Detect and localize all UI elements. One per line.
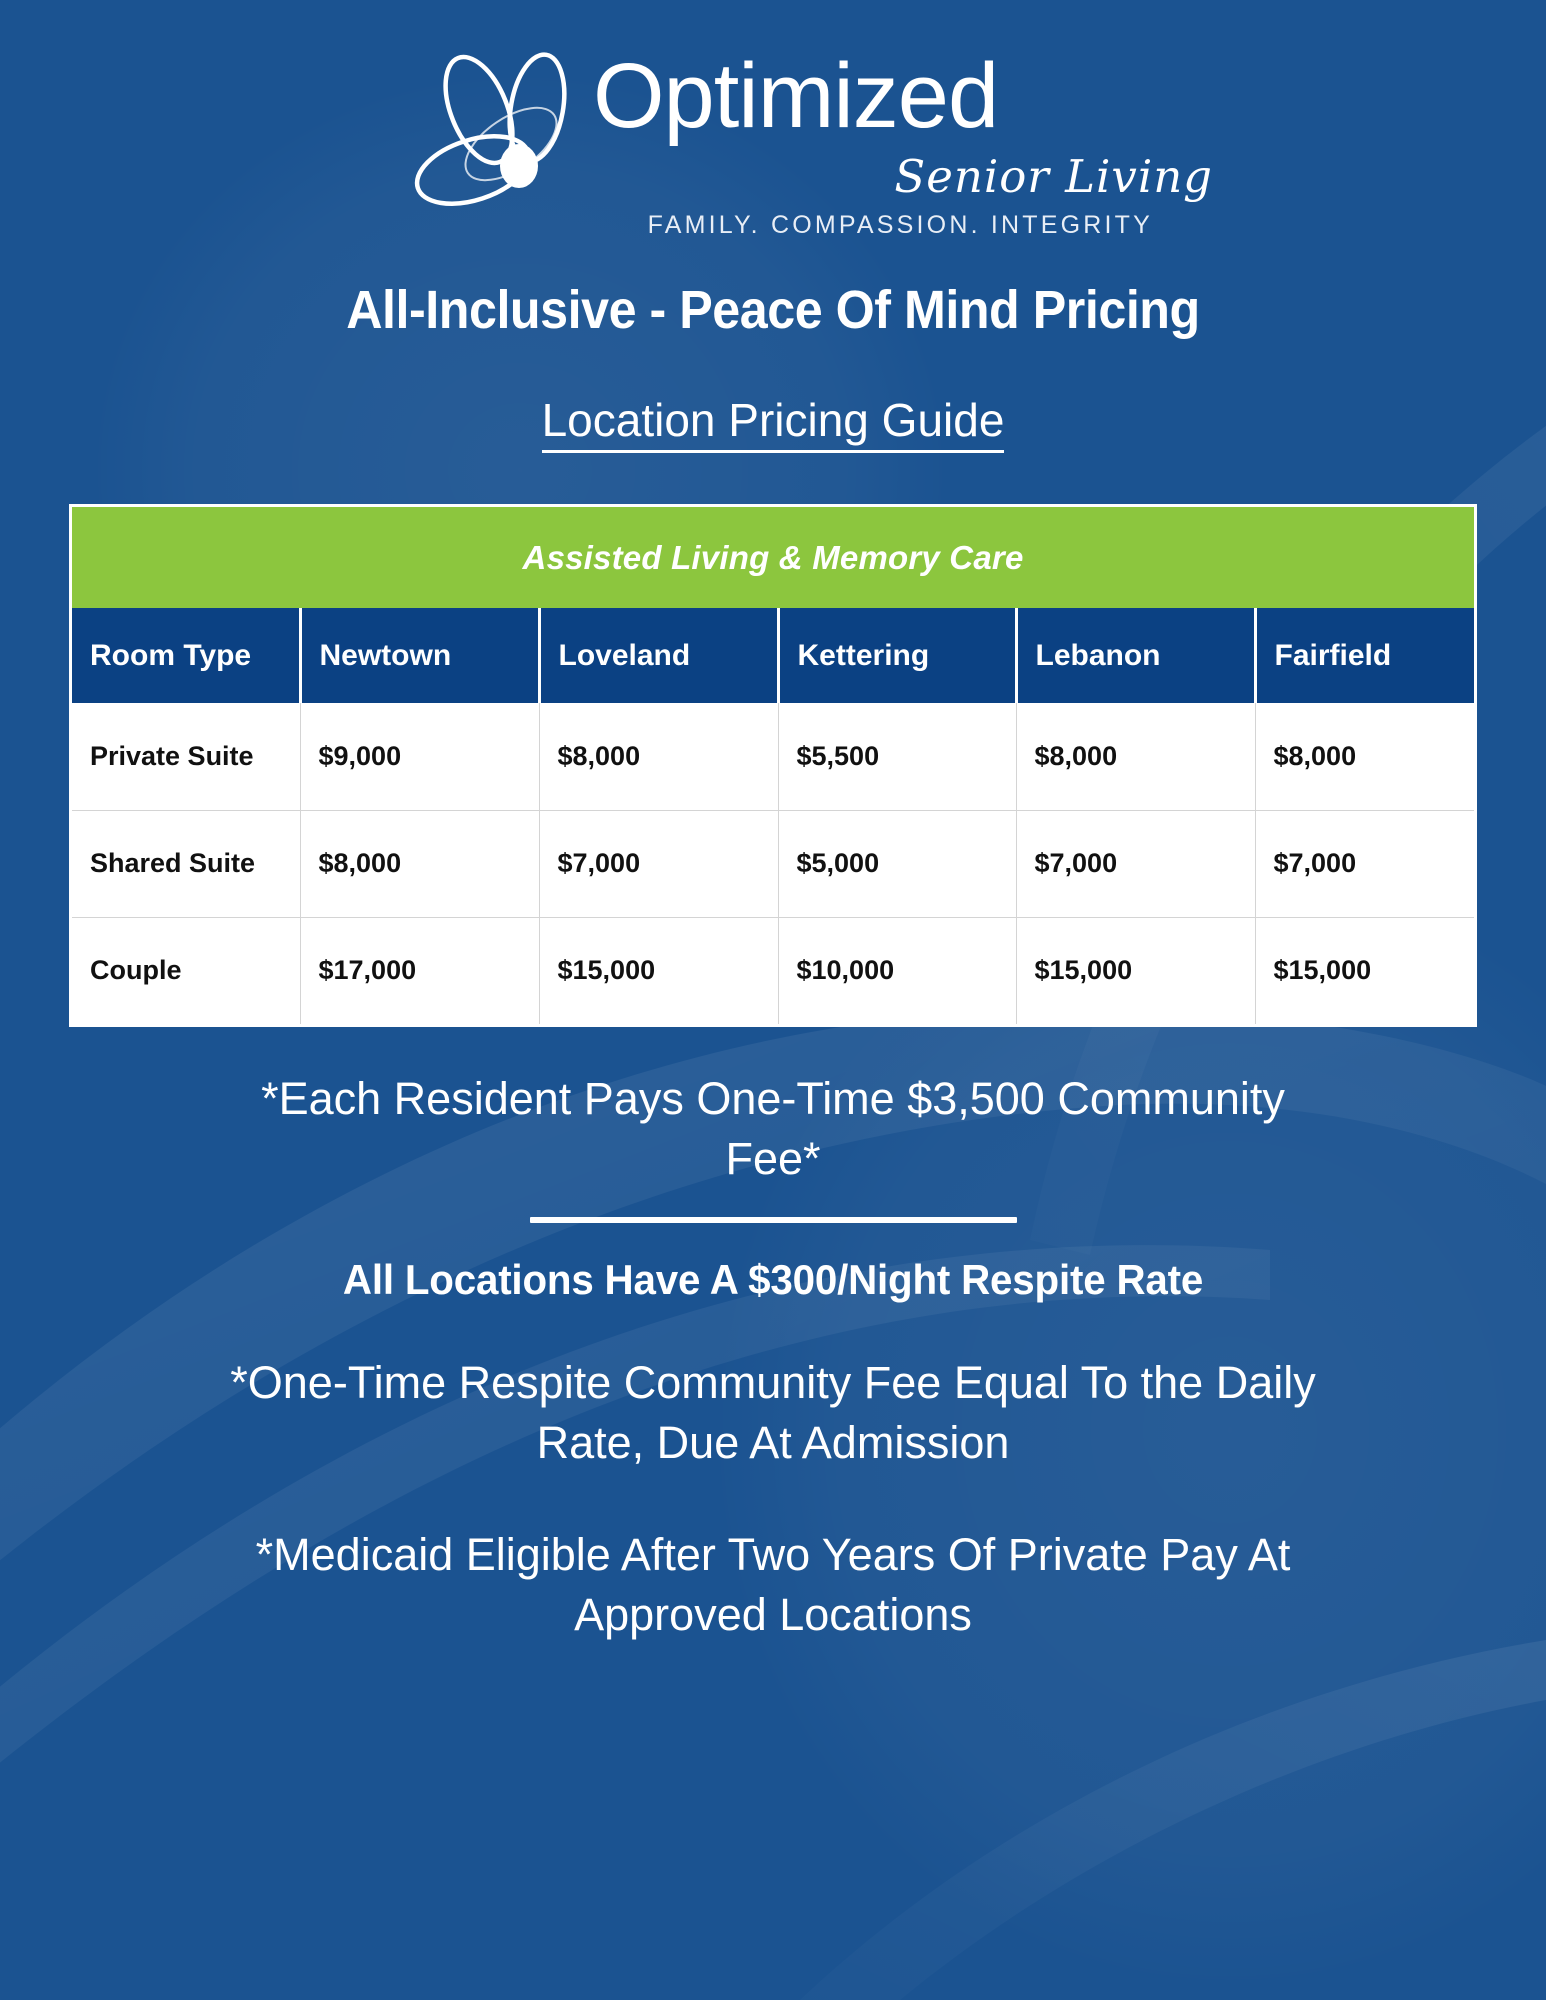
price-shared-suite-kettering: $5,000 (778, 810, 1016, 917)
brand-logo: Optimized Senior Living FAMILY. COMPASSI… (0, 0, 1546, 251)
pricing-table-container: Assisted Living & Memory Care Room Type … (69, 504, 1477, 1027)
price-private-suite-newtown: $9,000 (300, 703, 539, 810)
note-respite-community-fee: *One-Time Respite Community Fee Equal To… (0, 1353, 1546, 1473)
table-group-header: Assisted Living & Memory Care (72, 507, 1474, 608)
price-private-suite-lebanon: $8,000 (1016, 703, 1255, 810)
column-header-fairfield: Fairfield (1255, 608, 1474, 703)
column-header-loveland: Loveland (539, 608, 778, 703)
price-couple-loveland: $15,000 (539, 917, 778, 1024)
column-header-kettering: Kettering (778, 608, 1016, 703)
page-title: All-Inclusive - Peace Of Mind Pricing (54, 279, 1492, 341)
table-row: Couple $17,000 $15,000 $10,000 $15,000 $… (72, 917, 1474, 1024)
price-private-suite-fairfield: $8,000 (1255, 703, 1474, 810)
brand-name: Optimized (593, 48, 998, 145)
price-couple-lebanon: $15,000 (1016, 917, 1255, 1024)
price-shared-suite-loveland: $7,000 (539, 810, 778, 917)
price-private-suite-loveland: $8,000 (539, 703, 778, 810)
note-community-fee: *Each Resident Pays One-Time $3,500 Comm… (0, 1069, 1546, 1189)
row-label-private-suite: Private Suite (72, 703, 300, 810)
price-shared-suite-newtown: $8,000 (300, 810, 539, 917)
table-row: Shared Suite $8,000 $7,000 $5,000 $7,000… (72, 810, 1474, 917)
page-subtitle: Location Pricing Guide (0, 393, 1546, 447)
column-header-lebanon: Lebanon (1016, 608, 1255, 703)
pricing-table: Assisted Living & Memory Care Room Type … (72, 507, 1474, 1024)
row-label-couple: Couple (72, 917, 300, 1024)
note-respite-rate: All Locations Have A $300/Night Respite … (31, 1253, 1515, 1308)
butterfly-swirl-logo-icon (401, 52, 606, 232)
price-couple-kettering: $10,000 (778, 917, 1016, 1024)
price-private-suite-kettering: $5,500 (778, 703, 1016, 810)
price-shared-suite-lebanon: $7,000 (1016, 810, 1255, 917)
table-group-header-row: Assisted Living & Memory Care (72, 507, 1474, 608)
price-couple-fairfield: $15,000 (1255, 917, 1474, 1024)
column-header-room-type: Room Type (72, 608, 300, 703)
brand-script: Senior Living (793, 150, 1213, 203)
price-couple-newtown: $17,000 (300, 917, 539, 1024)
price-shared-suite-fairfield: $7,000 (1255, 810, 1474, 917)
table-row: Private Suite $9,000 $8,000 $5,500 $8,00… (72, 703, 1474, 810)
brand-tagline: FAMILY. COMPASSION. INTEGRITY (493, 211, 1153, 240)
row-label-shared-suite: Shared Suite (72, 810, 300, 917)
page-subtitle-text: Location Pricing Guide (542, 394, 1005, 453)
column-header-newtown: Newtown (300, 608, 539, 703)
footer-notes: *Each Resident Pays One-Time $3,500 Comm… (0, 1069, 1546, 1645)
section-divider (530, 1217, 1017, 1223)
pricing-document-page: Optimized Senior Living FAMILY. COMPASSI… (0, 0, 1546, 2000)
table-column-header-row: Room Type Newtown Loveland Kettering Leb… (72, 608, 1474, 703)
note-medicaid-eligibility: *Medicaid Eligible After Two Years Of Pr… (0, 1525, 1546, 1645)
